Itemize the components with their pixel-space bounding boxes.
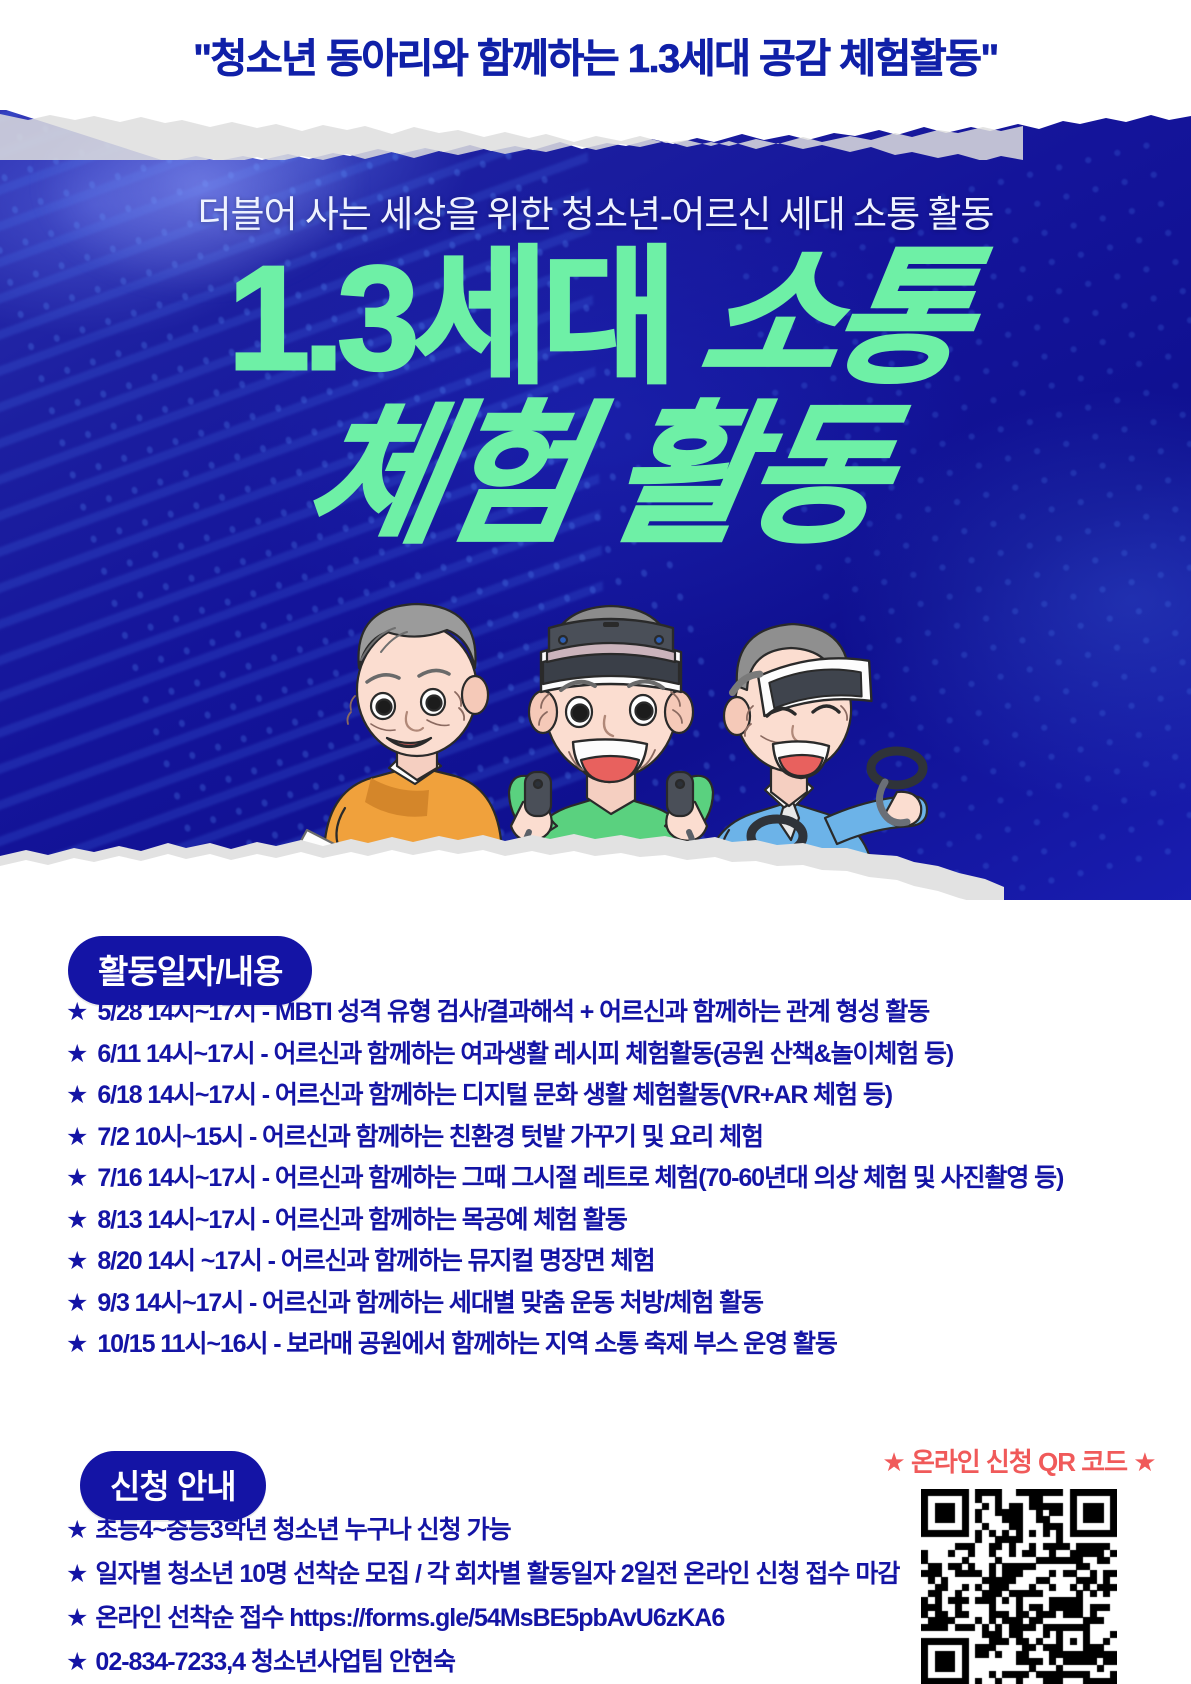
hero-title-line1: 1.3세대 소통 — [0, 245, 1191, 393]
schedule-item-text: 8/20 14시 ~17시 - 어르신과 함께하는 뮤지컬 명장면 체험 — [97, 1249, 654, 1274]
qr-code-title: ★ 온라인 신청 QR 코드 ★ — [869, 1442, 1169, 1479]
star-bullet-icon: ★ — [66, 1518, 87, 1543]
schedule-item: ★ 7/16 14시~17시 - 어르신과 함께하는 그때 그시절 레트로 체험… — [66, 1166, 1136, 1191]
qr-code-image[interactable] — [921, 1489, 1117, 1684]
star-bullet-icon: ★ — [66, 1083, 87, 1108]
star-bullet-icon: ★ — [66, 1166, 87, 1191]
schedule-item-text: 6/18 14시~17시 - 어르신과 함께하는 디지털 문화 생활 체험활동(… — [97, 1083, 892, 1108]
star-bullet-icon: ★ — [66, 1562, 87, 1587]
schedule-item-text: 5/28 14시~17시 - MBTI 성격 유형 검사/결과해석 + 어르신과… — [97, 1000, 929, 1025]
poster-root: "청소년 동아리와 함께하는 1.3세대 공감 체험활동" 더블어 사는 세상을… — [0, 0, 1191, 1684]
character-illustration — [285, 540, 925, 900]
apply-item-application-url[interactable]: ★ 온라인 선착순 접수 https://forms.gle/54MsBE5pb… — [66, 1606, 946, 1631]
star-bullet-icon: ★ — [66, 1249, 87, 1274]
apply-item: ★ 초등4~중등3학년 청소년 누구나 신청 가능 — [66, 1518, 946, 1543]
star-bullet-icon: ★ — [66, 1208, 87, 1233]
schedule-list: ★ 5/28 14시~17시 - MBTI 성격 유형 검사/결과해석 + 어르… — [66, 1000, 1136, 1374]
apply-item-text: 02-834-7233,4 청소년사업팀 안현숙 — [95, 1650, 455, 1675]
apply-item-text: 초등4~중등3학년 청소년 누구나 신청 가능 — [95, 1518, 510, 1543]
star-bullet-icon: ★ — [66, 1291, 87, 1316]
character-right-elder-vr-controllers — [701, 624, 927, 900]
schedule-item-text: 7/16 14시~17시 - 어르신과 함께하는 그때 그시절 레트로 체험(7… — [97, 1166, 1063, 1191]
star-bullet-icon: ★ — [66, 1042, 87, 1067]
schedule-item-text: 7/2 10시~15시 - 어르신과 함께하는 친환경 텃밭 가꾸기 및 요리 … — [97, 1125, 763, 1150]
schedule-item: ★ 10/15 11시~16시 - 보라매 공원에서 함께하는 지역 소통 축제… — [66, 1332, 1136, 1357]
hero-title-part-a: 1.3세대 — [228, 236, 671, 401]
schedule-item: ★ 7/2 10시~15시 - 어르신과 함께하는 친환경 텃밭 가꾸기 및 요… — [66, 1125, 1136, 1150]
schedule-item-text: 6/11 14시~17시 - 어르신과 함께하는 여과생활 레시피 체험활동(공… — [97, 1042, 953, 1067]
section-pill-schedule: 활동일자/내용 — [68, 936, 312, 1005]
hero-subtitle: 더블어 사는 세상을 위한 청소년-어르신 세대 소통 활동 — [0, 184, 1191, 238]
star-bullet-icon: ★ — [66, 1650, 87, 1675]
star-bullet-icon: ★ — [66, 1332, 87, 1357]
hero-title-line2: 체험 활동 — [0, 400, 1191, 552]
schedule-item: ★ 6/18 14시~17시 - 어르신과 함께하는 디지털 문화 생활 체험활… — [66, 1083, 1136, 1108]
star-bullet-icon: ★ — [66, 1606, 87, 1631]
schedule-item: ★ 5/28 14시~17시 - MBTI 성격 유형 검사/결과해석 + 어르… — [66, 1000, 1136, 1025]
hero-title-part-b: 소통 — [693, 245, 975, 393]
star-bullet-icon: ★ — [66, 1125, 87, 1150]
schedule-item: ★ 8/13 14시~17시 - 어르신과 함께하는 목공예 체험 활동 — [66, 1208, 1136, 1233]
character-left-elder-with-smartphone — [283, 604, 505, 900]
apply-item: ★ 일자별 청소년 10명 선착순 모집 / 각 회차별 활동일자 2일전 온라… — [66, 1562, 946, 1587]
qr-code-block: ★ 온라인 신청 QR 코드 ★ — [869, 1442, 1169, 1684]
apply-item-text[interactable]: 온라인 선착순 접수 https://forms.gle/54MsBE5pbAv… — [95, 1606, 724, 1631]
apply-item-text: 일자별 청소년 10명 선착순 모집 / 각 회차별 활동일자 2일전 온라인 … — [95, 1562, 899, 1587]
character-center-vr-headset — [509, 606, 713, 900]
schedule-item-text: 10/15 11시~16시 - 보라매 공원에서 함께하는 지역 소통 축제 부… — [97, 1332, 836, 1357]
schedule-item: ★ 6/11 14시~17시 - 어르신과 함께하는 여과생활 레시피 체험활동… — [66, 1042, 1136, 1067]
schedule-item-text: 9/3 14시~17시 - 어르신과 함께하는 세대별 맞춤 운동 처방/체험 … — [97, 1291, 763, 1316]
schedule-item-text: 8/13 14시~17시 - 어르신과 함께하는 목공예 체험 활동 — [97, 1208, 626, 1233]
schedule-item: ★ 8/20 14시 ~17시 - 어르신과 함께하는 뮤지컬 명장면 체험 — [66, 1249, 1136, 1274]
section-pill-apply: 신청 안내 — [80, 1451, 266, 1520]
top-headline: "청소년 동아리와 함께하는 1.3세대 공감 체험활동" — [0, 26, 1191, 84]
apply-info-list: ★ 초등4~중등3학년 청소년 누구나 신청 가능 ★ 일자별 청소년 10명 … — [66, 1518, 946, 1684]
hero-banner: 더블어 사는 세상을 위한 청소년-어르신 세대 소통 활동 1.3세대 소통 … — [0, 110, 1191, 900]
vr-headset-icon — [541, 619, 681, 692]
schedule-item: ★ 9/3 14시~17시 - 어르신과 함께하는 세대별 맞춤 운동 처방/체… — [66, 1291, 1136, 1316]
star-bullet-icon: ★ — [66, 1000, 87, 1025]
apply-item-contact: ★ 02-834-7233,4 청소년사업팀 안현숙 — [66, 1650, 946, 1675]
